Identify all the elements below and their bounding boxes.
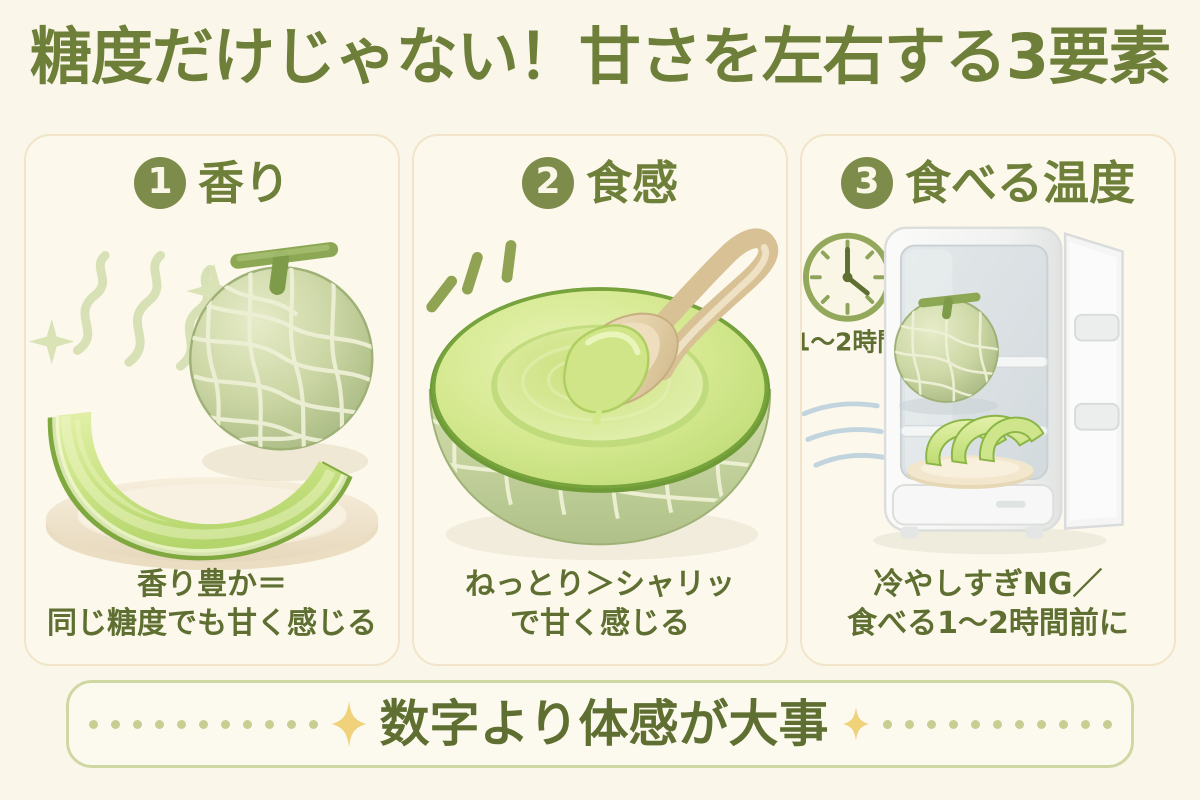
sparkle-icon [332,701,366,747]
illustration-halved-melon-spoon [414,210,786,570]
cards-row: 1 香り [24,134,1176,666]
dot [993,720,1002,729]
dot [1103,720,1112,729]
card-header: 2 食感 [414,152,786,214]
dot [309,720,318,729]
card-caption: 香り豊か＝ 同じ糖度でも甘く感じる [26,565,398,644]
infographic-page: 糖度だけじゃない！甘さを左右する3要素 1 香り [0,0,1200,800]
banner-text: 数字より体感が大事 [380,699,829,749]
card-aroma: 1 香り [24,134,400,666]
dot [1059,720,1068,729]
dot [111,720,120,729]
emphasis-dash-icon [432,246,511,307]
refrigerator-shape [873,228,1122,554]
dot [221,720,230,729]
dot [1015,720,1024,729]
caption-line-1: 香り豊か＝ [26,565,398,605]
dot [133,720,142,729]
caption-line-2: 同じ糖度でも甘く感じる [26,604,398,644]
fridge-door-shape [1065,234,1122,529]
card-caption: 冷やしすぎNG／ 食べる1〜2時間前に [802,565,1174,644]
card-title: 香り [198,160,290,206]
caption-line-1: ねっとり＞シャリッ [414,565,786,605]
clock-icon [806,236,889,319]
dot [1081,720,1090,729]
dot [265,720,274,729]
dot [199,720,208,729]
card-title: 食感 [586,160,678,206]
page-title: 糖度だけじゃない！甘さを左右する3要素 [0,26,1200,88]
caption-line-2: で甘く感じる [414,604,786,644]
sparkle-icon [843,707,869,741]
dot [1037,720,1046,729]
dot [89,720,98,729]
dot [883,720,892,729]
card-header: 3 食べる温度 [802,152,1174,214]
illustration-aroma-melon [26,210,398,570]
illustration-fridge-melon: 1〜2時間 [802,210,1174,570]
card-caption: ねっとり＞シャリッ で甘く感じる [414,565,786,644]
card-number-badge: 2 [522,157,574,209]
dot [927,720,936,729]
dot [971,720,980,729]
dot [949,720,958,729]
dot [243,720,252,729]
card-number-badge: 3 [841,157,893,209]
dots-right [883,720,1112,729]
card-header: 1 香り [26,152,398,214]
cold-air-icon [804,404,883,465]
card-title: 食べる温度 [905,160,1135,206]
card-number-badge: 1 [134,157,186,209]
card-texture: 2 食感 [412,134,788,666]
summary-banner: 数字より体感が大事 [66,680,1134,768]
caption-line-1: 冷やしすぎNG／ [802,565,1174,605]
caption-line-2: 食べる1〜2時間前に [802,604,1174,644]
dots-left [89,720,318,729]
dot [287,720,296,729]
dot [905,720,914,729]
dot [177,720,186,729]
dot [155,720,164,729]
card-temperature: 3 食べる温度 [800,134,1176,666]
